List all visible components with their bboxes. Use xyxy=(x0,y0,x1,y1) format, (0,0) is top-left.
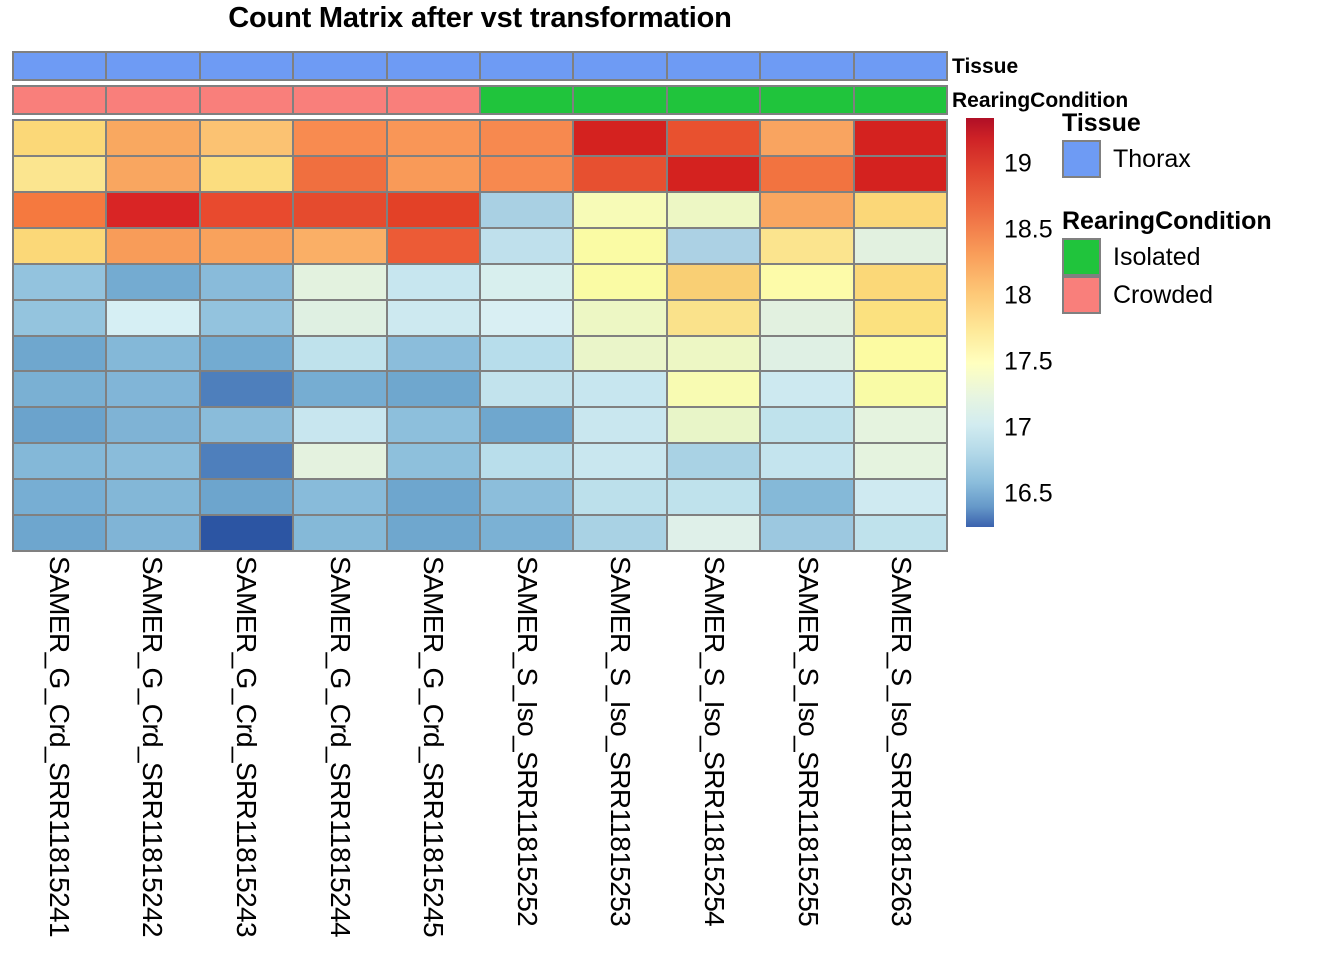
colorbar-tick-label: 17 xyxy=(1004,416,1032,441)
heatmap-cell xyxy=(761,516,852,550)
legend-rearing-condition-entry-label: Crowded xyxy=(1113,283,1213,308)
column-label-slot: SAMER_S_Iso_SRR11815255 xyxy=(761,556,855,956)
rearing-condition-annotation-cell xyxy=(14,87,107,113)
column-label-slot: SAMER_G_Crd_SRR11815244 xyxy=(293,556,387,956)
heatmap-cell xyxy=(668,157,759,191)
colorbar-tick-label: 19 xyxy=(1004,152,1032,177)
heatmap-cell xyxy=(855,157,946,191)
heatmap-cell xyxy=(388,408,479,442)
column-label: SAMER_G_Crd_SRR11815241 xyxy=(45,556,73,937)
heatmap-cell xyxy=(107,337,198,371)
tissue-annotation-cell xyxy=(855,53,946,79)
heatmap-cell xyxy=(107,265,198,299)
heatmap-cell xyxy=(574,157,665,191)
heatmap-grid xyxy=(12,119,948,552)
heatmap-cell xyxy=(388,516,479,550)
heatmap-cell xyxy=(201,121,292,155)
heatmap-cell xyxy=(294,408,385,442)
heatmap-cell xyxy=(855,265,946,299)
colorbar-tick-label: 18.5 xyxy=(1004,218,1053,243)
heatmap-cell xyxy=(574,444,665,478)
tissue-annotation-cell xyxy=(574,53,667,79)
column-label-slot: SAMER_S_Iso_SRR11815253 xyxy=(574,556,668,956)
heatmap-cell xyxy=(14,337,105,371)
heatmap-cell xyxy=(388,301,479,335)
rearing-condition-annotation-cell xyxy=(855,87,946,113)
rearing-condition-annotation-cell xyxy=(481,87,574,113)
heatmap-cell xyxy=(481,265,572,299)
heatmap-cell xyxy=(388,337,479,371)
heatmap-cell xyxy=(481,372,572,406)
heatmap-cell xyxy=(855,337,946,371)
heatmap-cell xyxy=(668,121,759,155)
heatmap-cell xyxy=(201,301,292,335)
legend-tissue-entry[interactable]: Thorax xyxy=(1062,140,1191,178)
heatmap-cell xyxy=(481,121,572,155)
heatmap-cell xyxy=(761,229,852,263)
heatmap-cell xyxy=(855,444,946,478)
legend-rearing-condition-entry-label: Isolated xyxy=(1113,245,1201,270)
heatmap-cell xyxy=(107,193,198,227)
column-label-slot: SAMER_S_Iso_SRR11815263 xyxy=(854,556,948,956)
heatmap-cell xyxy=(388,229,479,263)
tissue-annotation-cell xyxy=(388,53,481,79)
heatmap-cell xyxy=(294,193,385,227)
rearing-condition-annotation-cell xyxy=(761,87,854,113)
heatmap-cell xyxy=(14,265,105,299)
heatmap-cell xyxy=(574,121,665,155)
heatmap-cell xyxy=(668,480,759,514)
heatmap-cell xyxy=(855,516,946,550)
heatmap-cell xyxy=(388,193,479,227)
heatmap-cell xyxy=(855,193,946,227)
heatmap-cell xyxy=(668,193,759,227)
heatmap-cell xyxy=(388,480,479,514)
tissue-annotation-cell xyxy=(668,53,761,79)
heatmap-cell xyxy=(14,121,105,155)
heatmap-cell xyxy=(668,372,759,406)
heatmap-cell xyxy=(107,372,198,406)
heatmap-cell xyxy=(574,265,665,299)
heatmap-cell xyxy=(201,229,292,263)
heatmap-cell xyxy=(574,229,665,263)
tissue-annotation-bar xyxy=(12,51,948,81)
heatmap-cell xyxy=(294,301,385,335)
rearing-condition-annotation-cell xyxy=(107,87,200,113)
rearing-condition-annotation-cell xyxy=(388,87,481,113)
heatmap-cell xyxy=(481,480,572,514)
colorbar-tick-label: 16.5 xyxy=(1004,482,1053,507)
heatmap-cell xyxy=(107,157,198,191)
heatmap-cell xyxy=(201,157,292,191)
heatmap-cell xyxy=(14,516,105,550)
column-labels: SAMER_G_Crd_SRR11815241SAMER_G_Crd_SRR11… xyxy=(12,556,948,956)
legend-tissue-title: Tissue xyxy=(1062,110,1191,136)
heatmap-cell xyxy=(574,301,665,335)
column-label: SAMER_S_Iso_SRR11815263 xyxy=(887,556,915,926)
heatmap-cell xyxy=(761,372,852,406)
heatmap-cell xyxy=(481,444,572,478)
legend-rearing-condition-title: RearingCondition xyxy=(1062,208,1272,234)
heatmap-cell xyxy=(574,337,665,371)
column-label-slot: SAMER_S_Iso_SRR11815254 xyxy=(667,556,761,956)
column-label-slot: SAMER_G_Crd_SRR11815243 xyxy=(199,556,293,956)
legend-rearing-condition-entries: IsolatedCrowded xyxy=(1062,238,1272,314)
heatmap-cell xyxy=(761,408,852,442)
tissue-annotation-cell xyxy=(14,53,107,79)
tissue-annotation-label: Tissue xyxy=(952,56,1018,77)
rearing-condition-annotation-label: RearingCondition xyxy=(952,90,1128,111)
heatmap-cell xyxy=(481,516,572,550)
tissue-annotation-cell xyxy=(481,53,574,79)
heatmap-cell xyxy=(14,157,105,191)
heatmap-cell xyxy=(294,337,385,371)
rearing-condition-annotation-cell xyxy=(294,87,387,113)
heatmap-cell xyxy=(574,516,665,550)
tissue-annotation-cell xyxy=(107,53,200,79)
heatmap-cell xyxy=(14,444,105,478)
heatmap-cell xyxy=(201,444,292,478)
heatmap-cell xyxy=(574,193,665,227)
heatmap-cell xyxy=(761,265,852,299)
heatmap-cell xyxy=(294,157,385,191)
heatmap-cell xyxy=(201,516,292,550)
colorbar-gradient xyxy=(966,118,994,527)
heatmap-figure: Count Matrix after vst transformation Ti… xyxy=(0,0,1344,960)
legend-rearing-condition-swatch xyxy=(1062,238,1101,276)
heatmap-cell xyxy=(761,301,852,335)
column-label-slot: SAMER_G_Crd_SRR11815241 xyxy=(12,556,106,956)
heatmap-cell xyxy=(107,444,198,478)
heatmap-cell xyxy=(481,193,572,227)
legend-rearing-condition: RearingCondition IsolatedCrowded xyxy=(1062,208,1272,314)
heatmap-cell xyxy=(388,444,479,478)
heatmap-cell xyxy=(14,408,105,442)
column-label: SAMER_G_Crd_SRR11815244 xyxy=(326,556,354,937)
heatmap-cell xyxy=(201,193,292,227)
column-label: SAMER_G_Crd_SRR11815243 xyxy=(232,556,260,937)
heatmap-cell xyxy=(107,516,198,550)
heatmap-cell xyxy=(388,121,479,155)
heatmap-cell xyxy=(14,193,105,227)
heatmap-cell xyxy=(574,480,665,514)
rearing-condition-annotation-bar xyxy=(12,85,948,115)
tissue-annotation-cell xyxy=(201,53,294,79)
column-label-slot: SAMER_S_Iso_SRR11815252 xyxy=(480,556,574,956)
heatmap-cell xyxy=(668,444,759,478)
heatmap-cell xyxy=(107,408,198,442)
column-label: SAMER_G_Crd_SRR11815245 xyxy=(419,556,447,937)
column-label-slot: SAMER_G_Crd_SRR11815242 xyxy=(106,556,200,956)
legend-tissue-entry-label: Thorax xyxy=(1113,147,1191,172)
colorbar-tick-label: 17.5 xyxy=(1004,350,1053,375)
heatmap-cell xyxy=(294,121,385,155)
column-label: SAMER_G_Crd_SRR11815242 xyxy=(138,556,166,937)
column-label: SAMER_S_Iso_SRR11815253 xyxy=(606,556,634,926)
legend-rearing-condition-entry[interactable]: Isolated xyxy=(1062,238,1272,276)
heatmap-cell xyxy=(14,229,105,263)
heatmap-cell xyxy=(855,121,946,155)
rearing-condition-annotation-cell xyxy=(201,87,294,113)
heatmap-cell xyxy=(107,121,198,155)
legend-tissue: Tissue Thorax xyxy=(1062,110,1191,178)
heatmap-cell xyxy=(294,265,385,299)
heatmap-cell xyxy=(481,157,572,191)
column-label: SAMER_S_Iso_SRR11815252 xyxy=(513,556,541,926)
tissue-annotation-cell xyxy=(761,53,854,79)
heatmap-cell xyxy=(668,229,759,263)
heatmap-cell xyxy=(761,444,852,478)
heatmap-cell xyxy=(294,480,385,514)
heatmap-cell xyxy=(481,229,572,263)
rearing-condition-annotation-cell xyxy=(574,87,667,113)
heatmap-cell xyxy=(294,516,385,550)
heatmap-cell xyxy=(107,301,198,335)
colorbar-tick-label: 18 xyxy=(1004,284,1032,309)
heatmap-cell xyxy=(481,337,572,371)
heatmap-cell xyxy=(201,265,292,299)
heatmap-cell xyxy=(761,157,852,191)
heatmap-cell xyxy=(761,121,852,155)
heatmap-cell xyxy=(855,372,946,406)
heatmap-cell xyxy=(14,480,105,514)
heatmap-cell xyxy=(388,265,479,299)
heatmap-cell xyxy=(574,372,665,406)
column-label-slot: SAMER_G_Crd_SRR11815245 xyxy=(386,556,480,956)
heatmap-cell xyxy=(855,229,946,263)
colorbar: 1918.51817.51716.5 xyxy=(966,118,994,527)
heatmap-cell xyxy=(481,408,572,442)
heatmap-cell xyxy=(107,480,198,514)
heatmap-cell xyxy=(201,480,292,514)
tissue-annotation-cell xyxy=(294,53,387,79)
heatmap-cell xyxy=(14,372,105,406)
heatmap-cell xyxy=(668,265,759,299)
heatmap-cell xyxy=(201,372,292,406)
heatmap-cell xyxy=(481,301,572,335)
column-label: SAMER_S_Iso_SRR11815255 xyxy=(794,556,822,926)
heatmap-cell xyxy=(761,193,852,227)
heatmap-cell xyxy=(668,408,759,442)
heatmap-cell xyxy=(574,408,665,442)
heatmap-cell xyxy=(388,157,479,191)
legend-tissue-entries: Thorax xyxy=(1062,140,1191,178)
heatmap-cell xyxy=(388,372,479,406)
heatmap-cell xyxy=(294,444,385,478)
column-label: SAMER_S_Iso_SRR11815254 xyxy=(700,556,728,926)
heatmap-cell xyxy=(761,337,852,371)
heatmap-cell xyxy=(14,301,105,335)
heatmap-cell xyxy=(201,408,292,442)
heatmap-cell xyxy=(855,408,946,442)
heatmap-cell xyxy=(761,480,852,514)
page-title: Count Matrix after vst transformation xyxy=(0,2,960,35)
heatmap-cell xyxy=(668,301,759,335)
heatmap-cell xyxy=(855,480,946,514)
heatmap-cell xyxy=(855,301,946,335)
legend-tissue-swatch xyxy=(1062,140,1101,178)
legend-rearing-condition-swatch xyxy=(1062,276,1101,314)
legend-rearing-condition-entry[interactable]: Crowded xyxy=(1062,276,1272,314)
heatmap-cell xyxy=(668,337,759,371)
heatmap-cell xyxy=(201,337,292,371)
heatmap-cell xyxy=(107,229,198,263)
rearing-condition-annotation-cell xyxy=(668,87,761,113)
heatmap-cell xyxy=(294,372,385,406)
heatmap-cell xyxy=(294,229,385,263)
heatmap-cell xyxy=(668,516,759,550)
